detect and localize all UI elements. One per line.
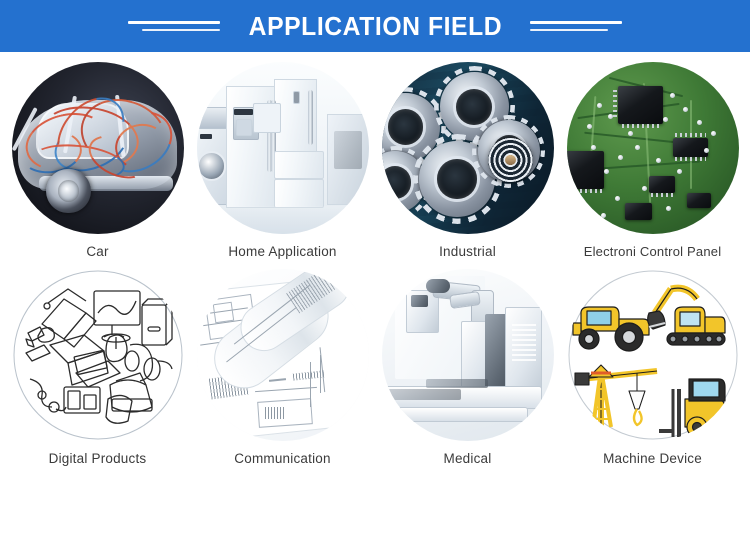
grid-row-2: Digital Products [0, 269, 750, 466]
header-rule-right-line-bottom [530, 29, 607, 31]
grid-item-label: Industrial [439, 244, 496, 259]
construction-vehicles-illustration [567, 269, 739, 441]
page-header-banner: APPLICATION FIELD [0, 0, 750, 52]
grid-item-label: Medical [444, 451, 492, 466]
car-wiring-harness-illustration [12, 62, 184, 234]
grid-item-communication[interactable]: Communication [195, 269, 370, 466]
header-rule-right-icon [530, 21, 622, 31]
grid-item-label: Home Application [228, 244, 336, 259]
grid-item-label: Electroni Control Panel [584, 244, 722, 259]
header-rule-left-icon [128, 21, 220, 31]
header-rule-right-line-top [530, 21, 622, 24]
home-application-image-circle [197, 62, 369, 234]
grid-item-electronic-control-panel[interactable]: Electroni Control Panel [565, 62, 740, 259]
communication-image-circle [197, 269, 369, 441]
grid-item-label: Machine Device [603, 451, 702, 466]
machine-device-image-circle [567, 269, 739, 441]
header-rule-left-line-bottom [142, 29, 219, 31]
header-rule-left-line-top [128, 21, 220, 24]
grid-item-label: Car [86, 244, 108, 259]
grid-item-industrial[interactable]: Industrial [380, 62, 555, 259]
industrial-image-circle [382, 62, 554, 234]
xray-machine-illustration [382, 269, 554, 441]
blueprint-drawings-illustration [197, 269, 369, 441]
car-image-circle [12, 62, 184, 234]
page-title: APPLICATION FIELD [248, 11, 501, 42]
grid-item-machine-device[interactable]: Machine Device [565, 269, 740, 466]
digital-products-image-circle [12, 269, 184, 441]
application-field-grid: Car [0, 52, 750, 466]
grid-item-label: Digital Products [49, 451, 147, 466]
grid-item-car[interactable]: Car [10, 62, 185, 259]
metal-gears-illustration [382, 62, 554, 234]
refrigerator-appliances-illustration [197, 62, 369, 234]
grid-item-label: Communication [234, 451, 330, 466]
grid-row-1: Car [0, 62, 750, 259]
medical-image-circle [382, 269, 554, 441]
grid-item-digital-products[interactable]: Digital Products [10, 269, 185, 466]
grid-item-medical[interactable]: Medical [380, 269, 555, 466]
consumer-electronics-line-art-illustration [12, 269, 184, 441]
control-panel-image-circle [567, 62, 739, 234]
grid-item-home-application[interactable]: Home Application [195, 62, 370, 259]
pcb-circuit-board-illustration [567, 62, 739, 234]
